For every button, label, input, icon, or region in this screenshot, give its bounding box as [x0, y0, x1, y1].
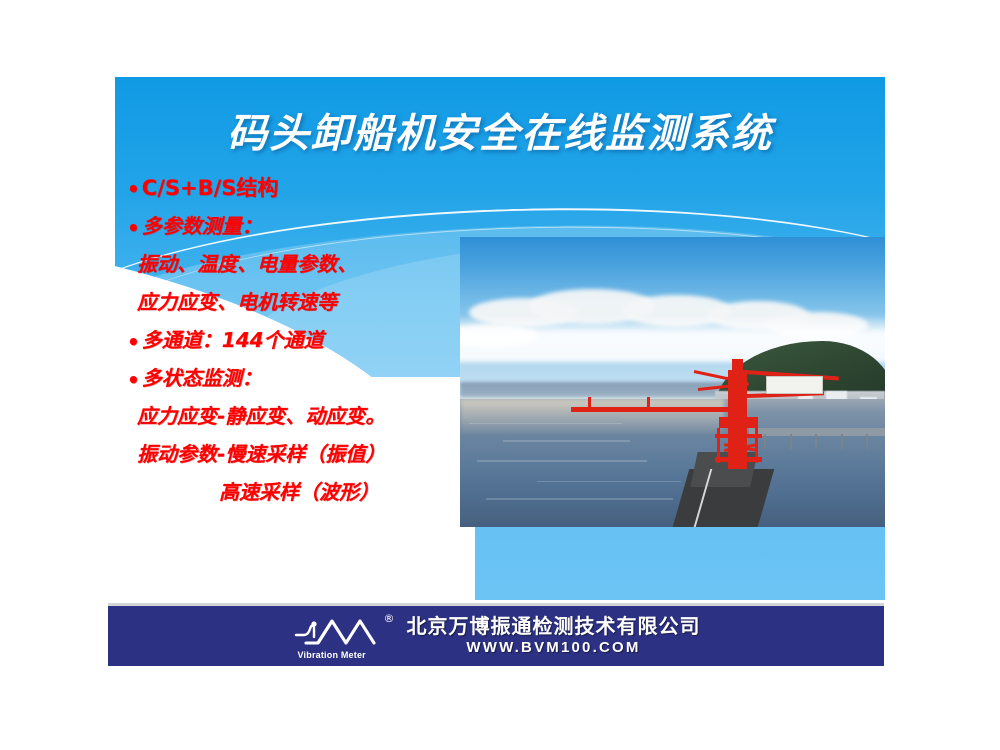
photo-crane-boom-post: [588, 397, 591, 409]
page-title: 码头卸船机安全在线监测系统: [115, 101, 885, 159]
bullet-text: 多参数测量：: [142, 214, 262, 238]
photo-crane-leg: [717, 428, 720, 463]
photo-pier-leg: [764, 434, 766, 449]
photo-pier-leg: [815, 434, 817, 449]
bullet-dot-icon: •: [127, 332, 140, 352]
vibration-meter-wave-icon: [292, 613, 397, 653]
logo-subtitle: Vibration Meter: [298, 650, 366, 660]
photo-pier-deck: [749, 428, 885, 435]
photo-pier-leg: [866, 434, 868, 449]
bullet-text: 振动、温度、电量参数、: [137, 252, 357, 276]
photo-crane-signboard: [766, 376, 823, 394]
photo-crane-head: [732, 359, 743, 374]
registered-trademark-icon: ®: [384, 612, 395, 625]
bullet-text: 应力应变-静应变、动应变。: [137, 404, 385, 428]
photo-wave: [503, 440, 631, 442]
slide-canvas: 码头卸船机安全在线监测系统 •C/S+B/S结构•多参数测量：振动、温度、电量参…: [115, 77, 885, 600]
bullet-text: 应力应变、电机转速等: [137, 290, 337, 314]
bullet-text: 多状态监测：: [142, 366, 262, 390]
company-logo: ® Vibration Meter: [292, 613, 397, 659]
bullet-line: 应力应变-静应变、动应变。: [127, 397, 487, 435]
bullet-text: 高速采样（波形）: [219, 480, 379, 504]
bullet-line: •多参数测量：: [127, 207, 487, 245]
harbor-photo: [460, 237, 885, 527]
company-website[interactable]: WWW.BVM100.COM: [466, 640, 640, 657]
photo-crane-boom-post: [647, 397, 650, 409]
photo-crane-machinery-house: [719, 417, 757, 429]
photo-wave: [537, 481, 682, 483]
bullet-line: 振动参数-慢速采样（振值）: [127, 435, 487, 473]
bullet-text: 多通道：144个通道: [142, 328, 324, 352]
bullet-line: 应力应变、电机转速等: [127, 283, 487, 321]
photo-sea-sheen: [460, 399, 724, 434]
bullet-list: •C/S+B/S结构•多参数测量：振动、温度、电量参数、应力应变、电机转速等•多…: [127, 169, 487, 511]
bullet-line: •多状态监测：: [127, 359, 487, 397]
slide-root: 码头卸船机安全在线监测系统 •C/S+B/S结构•多参数测量：振动、温度、电量参…: [0, 0, 1000, 750]
bullet-dot-icon: •: [127, 218, 140, 238]
photo-crane-boom: [571, 407, 741, 412]
photo-pier-leg: [841, 434, 843, 449]
bullet-text: 振动参数-慢速采样（振值）: [137, 442, 385, 466]
photo-wave: [469, 423, 622, 425]
bullet-dot-icon: •: [127, 179, 140, 199]
bullet-text: C/S+B/S结构: [142, 176, 279, 200]
bullet-line: 高速采样（波形）: [127, 473, 487, 511]
bullet-dot-icon: •: [127, 370, 140, 390]
photo-wave: [477, 460, 647, 462]
footer-bar: ® Vibration Meter 北京万博振通检测技术有限公司 WWW.BVM…: [108, 606, 884, 666]
bullet-line: •C/S+B/S结构: [127, 169, 487, 207]
bullet-line: 振动、温度、电量参数、: [127, 245, 487, 283]
photo-pier-leg: [790, 434, 792, 449]
bullet-line: •多通道：144个通道: [127, 321, 487, 359]
photo-wave: [486, 498, 673, 500]
company-name: 北京万博振通检测技术有限公司: [407, 615, 701, 637]
